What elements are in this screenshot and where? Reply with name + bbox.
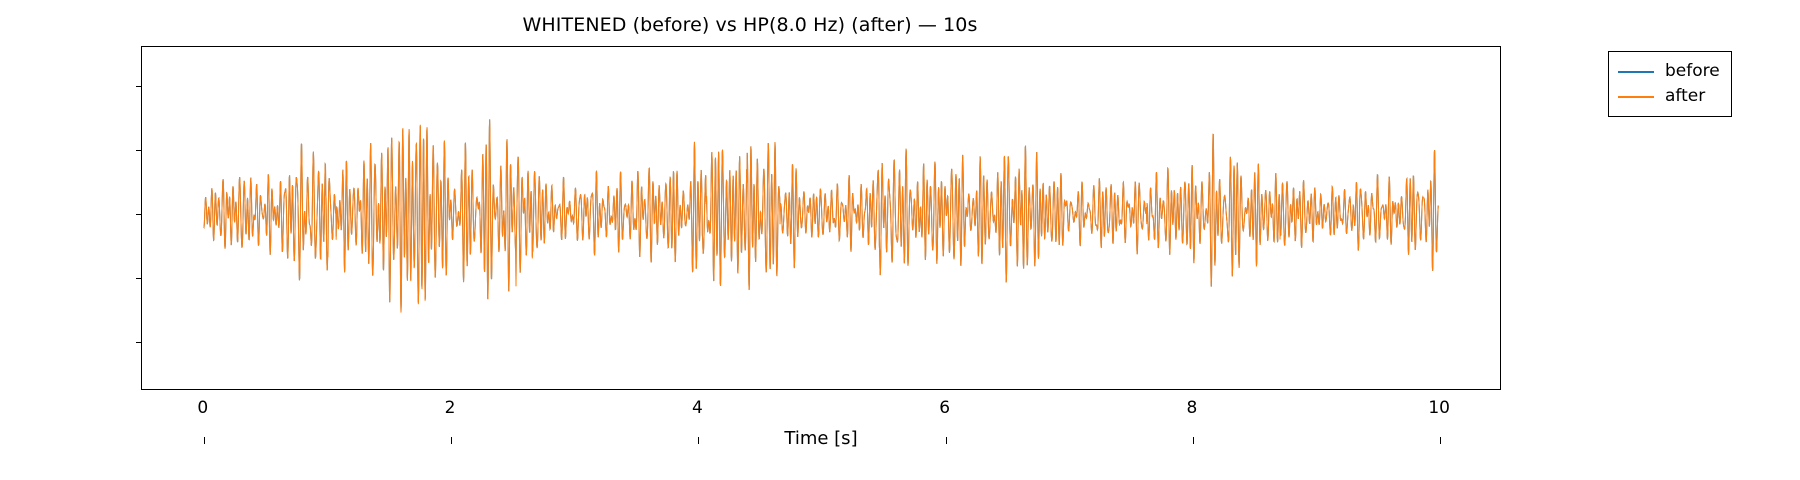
y-tick-mark (136, 86, 143, 87)
legend: before after (1608, 51, 1732, 117)
x-tick-label: 8 (1186, 398, 1197, 418)
chart-title: WHITENED (before) vs HP(8.0 Hz) (after) … (0, 14, 1500, 36)
legend-swatch-before (1618, 71, 1654, 73)
series-line-after (204, 119, 1439, 312)
y-tick-mark (136, 150, 143, 151)
x-tick-mark (1440, 437, 1441, 444)
x-tick-label: 10 (1428, 398, 1450, 418)
x-tick-label: 4 (692, 398, 703, 418)
x-tick-label: 2 (445, 398, 456, 418)
x-tick-mark (698, 437, 699, 444)
plot-axes (141, 46, 1501, 390)
x-tick-mark (451, 437, 452, 444)
waveform-svg (142, 47, 1500, 389)
y-tick-mark (136, 278, 143, 279)
legend-swatch-after (1618, 96, 1654, 98)
y-tick-mark (136, 342, 143, 343)
x-tick-mark (204, 437, 205, 444)
x-tick-mark (946, 437, 947, 444)
x-tick-label: 0 (197, 398, 208, 418)
legend-item-after: after (1618, 84, 1720, 109)
legend-item-before: before (1618, 59, 1720, 84)
x-tick-mark (1193, 437, 1194, 444)
legend-label-after: after (1665, 88, 1705, 105)
matplotlib-figure: WHITENED (before) vs HP(8.0 Hz) (after) … (0, 0, 1800, 480)
y-tick-mark (136, 214, 143, 215)
plot-surface (142, 47, 1500, 389)
x-tick-label: 6 (939, 398, 950, 418)
x-axis-label: Time [s] (141, 428, 1501, 449)
legend-label-before: before (1665, 63, 1720, 80)
